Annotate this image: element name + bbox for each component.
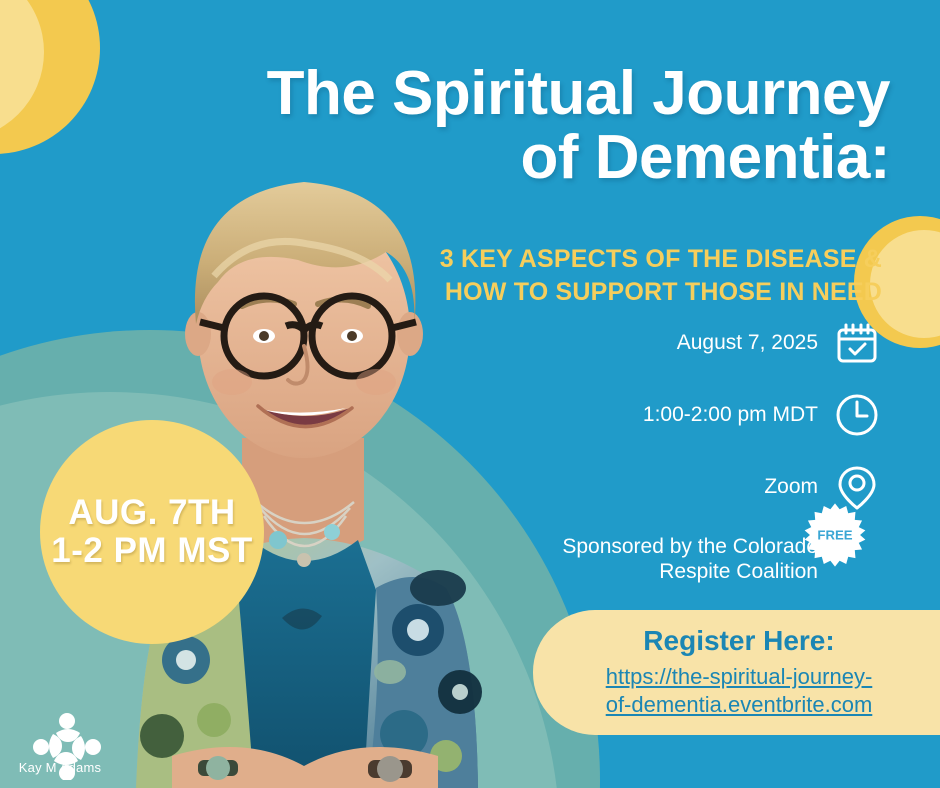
register-link[interactable]: https://the-spiritual-journey- of-dement…	[533, 663, 940, 719]
register-title: Register Here:	[533, 625, 940, 657]
calendar-check-icon	[832, 318, 882, 368]
headline-line2: of Dementia:	[150, 126, 890, 190]
detail-sponsor-text: Sponsored by the Colorado Respite Coalit…	[562, 534, 818, 584]
date-badge-line1: AUG. 7TH	[68, 494, 235, 532]
register-url-line1: https://the-spiritual-journey-	[533, 663, 940, 691]
date-badge: AUG. 7TH 1-2 PM MST	[40, 420, 264, 644]
detail-row-date: August 7, 2025	[362, 318, 882, 368]
detail-time-text: 1:00-2:00 pm MDT	[643, 402, 818, 427]
subtitle-line1: 3 KEY ASPECTS OF THE DISEASE &	[362, 243, 882, 276]
logo-wordmark: Kay M Adams	[8, 760, 112, 775]
detail-row-time: 1:00-2:00 pm MDT	[362, 390, 882, 440]
detail-date-text: August 7, 2025	[677, 330, 818, 355]
date-badge-line2: 1-2 PM MST	[51, 532, 252, 570]
register-url-line2: of-dementia.eventbrite.com	[533, 691, 940, 719]
event-flyer: AUG. 7TH 1-2 PM MST The Spiritual Journe…	[0, 0, 940, 788]
subtitle-line2: HOW TO SUPPORT THOSE IN NEED	[362, 276, 882, 309]
detail-location-text: Zoom	[764, 474, 818, 499]
clock-icon	[832, 390, 882, 440]
free-starburst-badge: FREE	[802, 502, 868, 568]
free-badge-label: FREE	[817, 528, 852, 543]
page-title: The Spiritual Journey of Dementia:	[150, 62, 890, 190]
page-subtitle: 3 KEY ASPECTS OF THE DISEASE & HOW TO SU…	[362, 243, 882, 308]
headline-line1: The Spiritual Journey	[150, 62, 890, 126]
